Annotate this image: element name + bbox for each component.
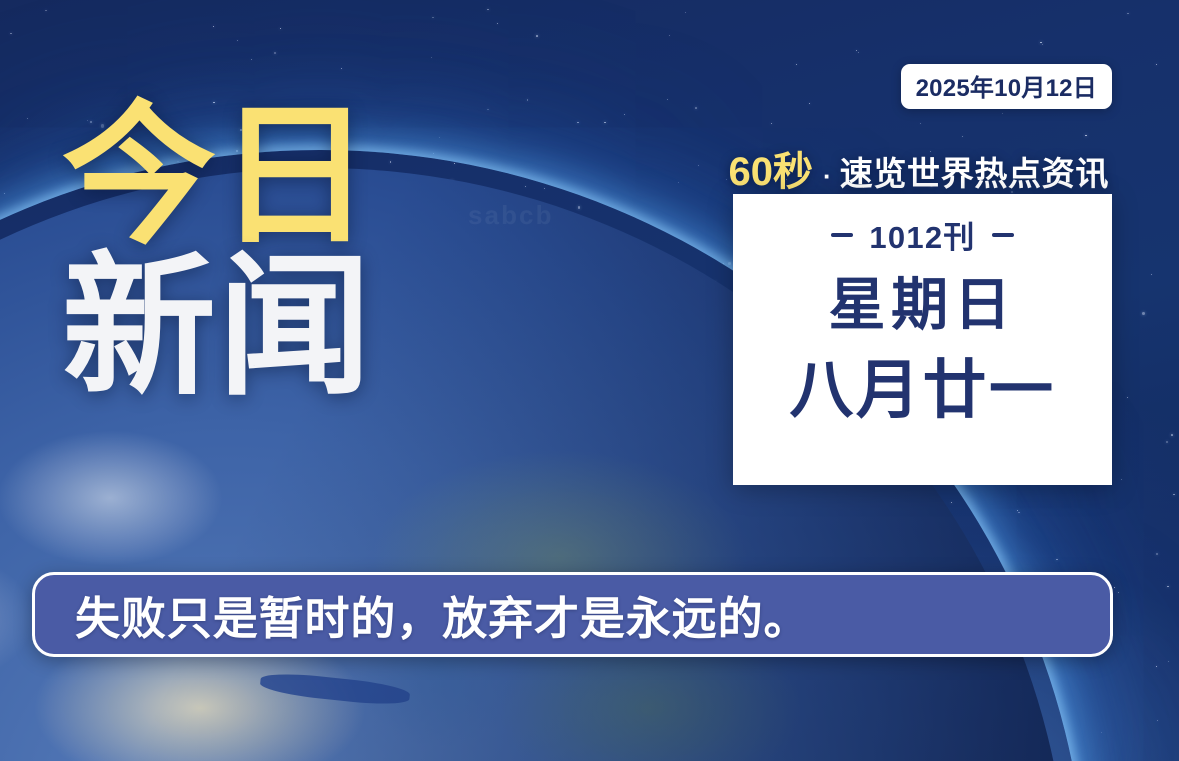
title-line-news: 新闻 bbox=[62, 255, 373, 400]
title-line-today: 今日 bbox=[62, 104, 373, 249]
news-poster: sabcb 今日 新闻 2025年10月12日 60秒 · 速览世界热点资讯 1… bbox=[0, 0, 1179, 761]
quote-text: 失败只是暂时的，放弃才是永远的。 bbox=[75, 582, 809, 647]
weekday-label: 星期日 bbox=[828, 277, 1016, 334]
date-badge: 2025年10月12日 bbox=[901, 64, 1112, 109]
dash-left-icon bbox=[831, 233, 853, 237]
issue-row: 1012刊 bbox=[831, 212, 1013, 257]
tagline-text: 速览世界热点资讯 bbox=[840, 147, 1109, 195]
issue-number: 1012刊 bbox=[869, 212, 975, 257]
page-title: 今日 新闻 bbox=[62, 104, 373, 400]
lunar-date-label: 八月廿一 bbox=[789, 358, 1055, 422]
tagline: 60秒 · 速览世界热点资讯 bbox=[729, 139, 1109, 197]
dash-right-icon bbox=[992, 233, 1014, 237]
quote-banner: 失败只是暂时的，放弃才是永远的。 bbox=[32, 572, 1113, 657]
calendar-card: 1012刊 星期日 八月廿一 bbox=[733, 194, 1112, 485]
tagline-separator-icon: · bbox=[819, 161, 834, 192]
tagline-seconds: 60秒 bbox=[729, 139, 814, 197]
